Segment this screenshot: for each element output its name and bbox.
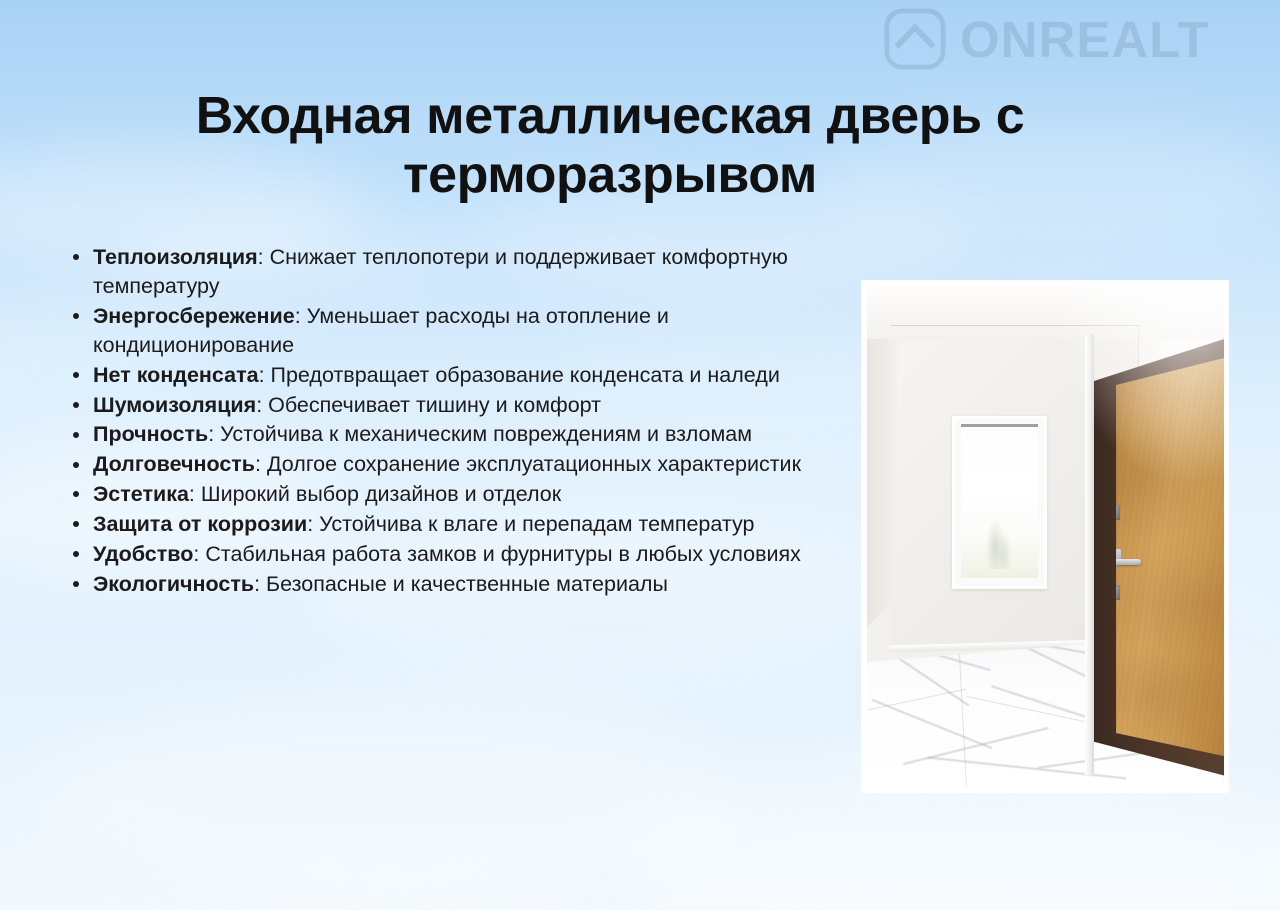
list-item: Эстетика: Широкий выбор дизайнов и отдел… <box>68 480 828 509</box>
photo-ceiling-seam <box>891 325 1141 326</box>
feature-separator: : <box>189 482 201 506</box>
feature-term: Прочность <box>93 422 208 446</box>
feature-description: Стабильная работа замков и фурнитуры в л… <box>205 542 801 566</box>
photo-marble-vein <box>903 727 1049 765</box>
feature-term: Защита от коррозии <box>93 512 307 536</box>
feature-description: Устойчива к механическим повреждениям и … <box>220 422 752 446</box>
bullet-dot-icon <box>73 313 79 319</box>
feature-separator: : <box>295 304 307 328</box>
bullet-dot-icon <box>73 491 79 497</box>
page-title: Входная металлическая дверь с терморазры… <box>60 87 1160 205</box>
bullet-dot-icon <box>73 432 79 438</box>
photo-window <box>952 416 1047 589</box>
list-item: Экологичность: Безопасные и качественные… <box>68 570 828 599</box>
watermark: ONREALT <box>884 8 1210 70</box>
list-item: Шумоизоляция: Обеспечивает тишину и комф… <box>68 391 828 420</box>
feature-separator: : <box>256 393 268 417</box>
bullet-dot-icon <box>73 581 79 587</box>
bullet-dot-icon <box>73 551 79 557</box>
bullet-dot-icon <box>73 372 79 378</box>
house-roof-icon <box>884 8 946 70</box>
feature-term: Экологичность <box>93 572 254 596</box>
cloud-wisp <box>40 700 740 900</box>
door-photo <box>862 281 1228 792</box>
feature-separator: : <box>208 422 220 446</box>
feature-term: Теплоизоляция <box>93 245 258 269</box>
feature-description: Обеспечивает тишину и комфорт <box>268 393 601 417</box>
feature-term: Эстетика <box>93 482 189 506</box>
feature-separator: : <box>193 542 205 566</box>
list-item: Долговечность: Долгое сохранение эксплуа… <box>68 450 828 479</box>
photo-window-glass <box>961 424 1038 578</box>
photo-window-foliage <box>983 496 1017 568</box>
feature-term: Энергосбережение <box>93 304 295 328</box>
photo-door-handle <box>1114 559 1141 565</box>
feature-description: Широкий выбор дизайнов и отделок <box>201 482 561 506</box>
photo-door-jamb <box>1085 335 1094 775</box>
bullet-dot-icon <box>73 462 79 468</box>
photo-marble-vein <box>871 699 992 750</box>
list-item: Энергосбережение: Уменьшает расходы на о… <box>68 302 828 360</box>
feature-separator: : <box>258 245 270 269</box>
bullet-dot-icon <box>73 254 79 260</box>
feature-separator: : <box>307 512 319 536</box>
bullet-dot-icon <box>73 521 79 527</box>
list-item: Удобство: Стабильная работа замков и фур… <box>68 540 828 569</box>
photo-door-leaf <box>1116 357 1224 757</box>
feature-separator: : <box>254 572 266 596</box>
feature-description: Устойчива к влаге и перепадам температур <box>319 512 754 536</box>
feature-list: Теплоизоляция: Снижает теплопотери и под… <box>68 243 828 600</box>
list-item: Теплоизоляция: Снижает теплопотери и под… <box>68 243 828 301</box>
feature-term: Нет конденсата <box>93 363 259 387</box>
bullet-dot-icon <box>73 402 79 408</box>
list-item: Нет конденсата: Предотвращает образовани… <box>68 361 828 390</box>
feature-term: Удобство <box>93 542 193 566</box>
list-item: Защита от коррозии: Устойчива к влаге и … <box>68 510 828 539</box>
list-item: Прочность: Устойчива к механическим повр… <box>68 420 828 449</box>
feature-term: Долговечность <box>93 452 255 476</box>
slide-canvas: ONREALT Входная металлическая дверь с те… <box>0 0 1280 910</box>
feature-description: Безопасные и качественные материалы <box>266 572 668 596</box>
watermark-text: ONREALT <box>960 14 1210 65</box>
feature-description: Долгое сохранение эксплуатационных харак… <box>267 452 801 476</box>
photo-ceiling <box>867 285 1224 339</box>
feature-separator: : <box>255 452 267 476</box>
feature-separator: : <box>259 363 271 387</box>
door-photo-image <box>867 285 1224 787</box>
feature-description: Предотвращает образование конденсата и н… <box>271 363 780 387</box>
photo-door-woodgrain <box>1116 357 1224 757</box>
feature-term: Шумоизоляция <box>93 393 256 417</box>
